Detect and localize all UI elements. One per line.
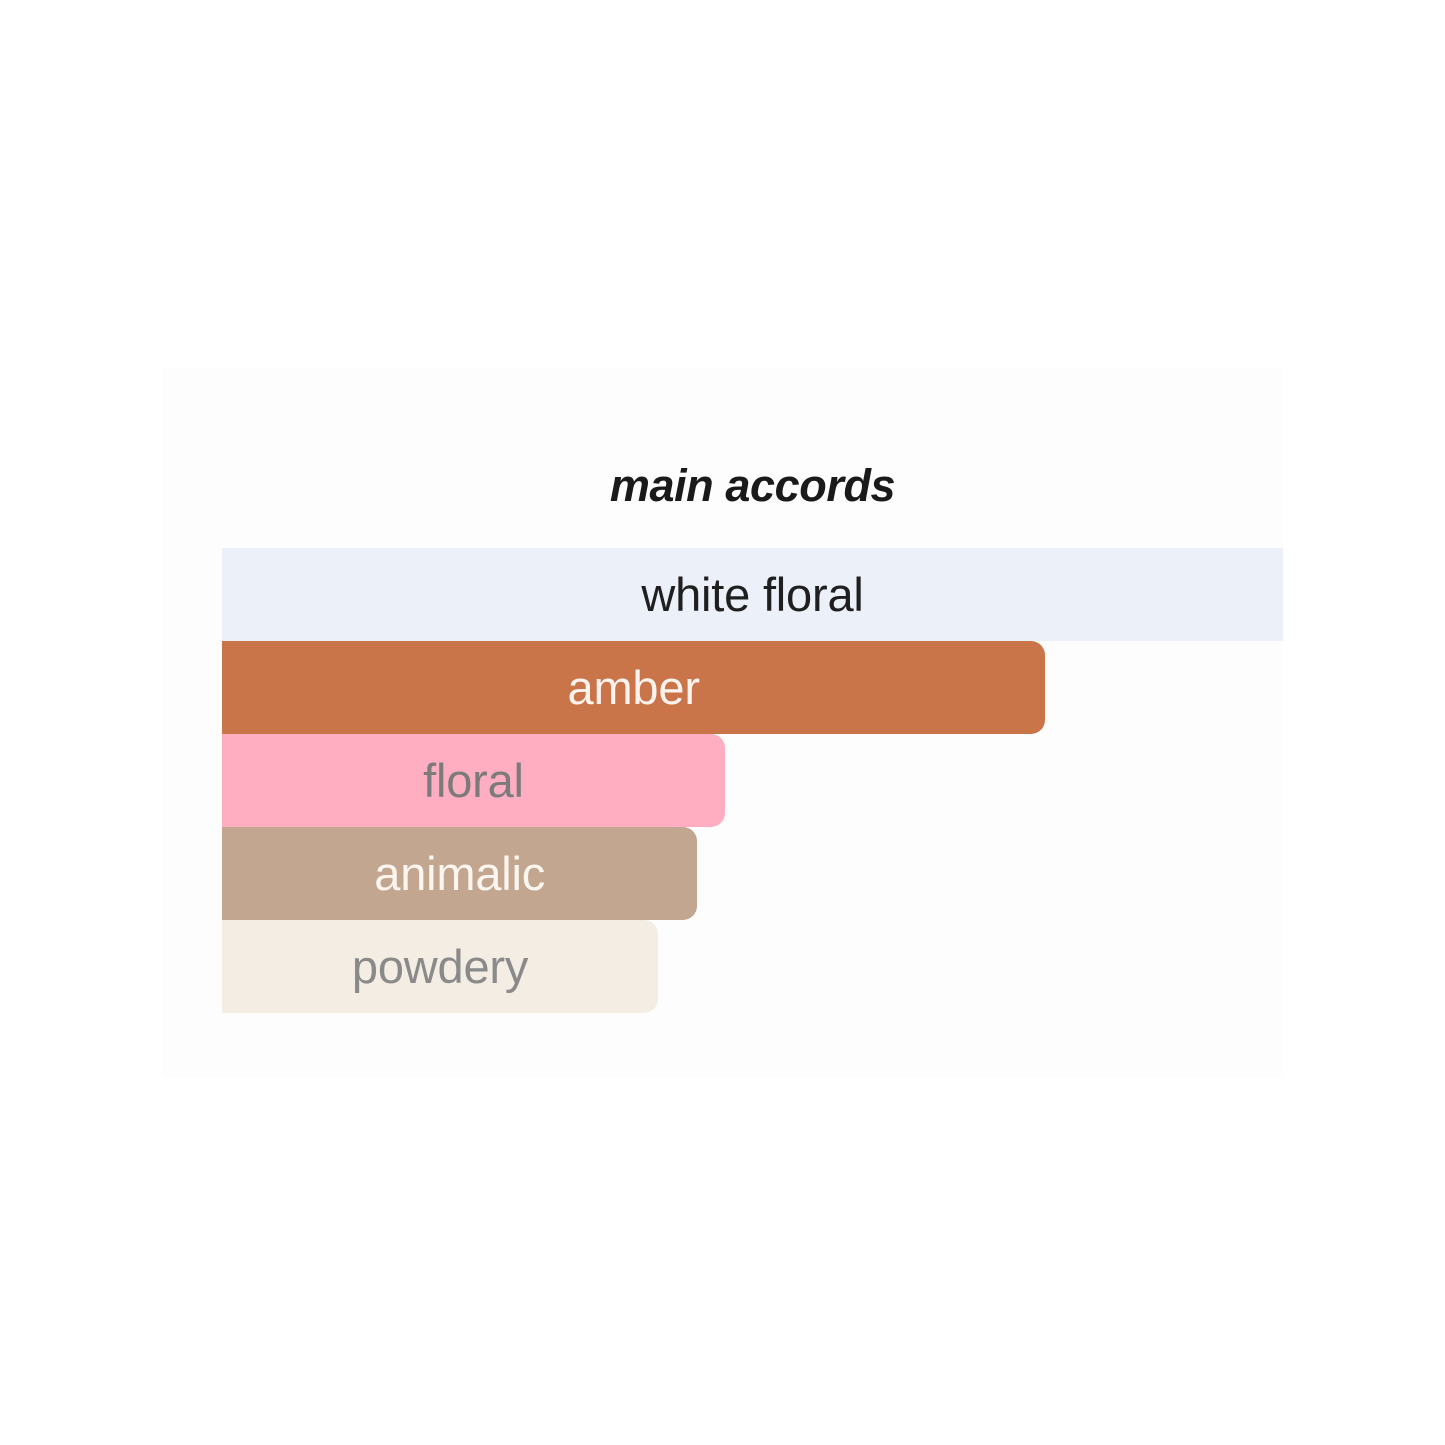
accord-bar-label: floral xyxy=(423,734,524,827)
accord-bar-list: white floralamberfloralanimalicpowdery xyxy=(222,548,1283,1012)
accord-bar-amber[interactable]: amber xyxy=(222,641,1045,734)
accord-bar-powdery[interactable]: powdery xyxy=(222,920,658,1013)
accord-bar-white-floral[interactable]: white floral xyxy=(222,548,1283,641)
accord-bar-label: animalic xyxy=(374,827,545,920)
main-accords-widget: main accords white floralamberfloralanim… xyxy=(0,0,1445,1445)
main-accords-title: main accords xyxy=(222,455,1283,517)
accord-bar-floral[interactable]: floral xyxy=(222,734,725,827)
accord-bar-label: amber xyxy=(568,641,700,734)
accord-bar-label: white floral xyxy=(641,548,863,641)
accord-bar-label: powdery xyxy=(352,920,528,1013)
accord-bar-animalic[interactable]: animalic xyxy=(222,827,697,920)
